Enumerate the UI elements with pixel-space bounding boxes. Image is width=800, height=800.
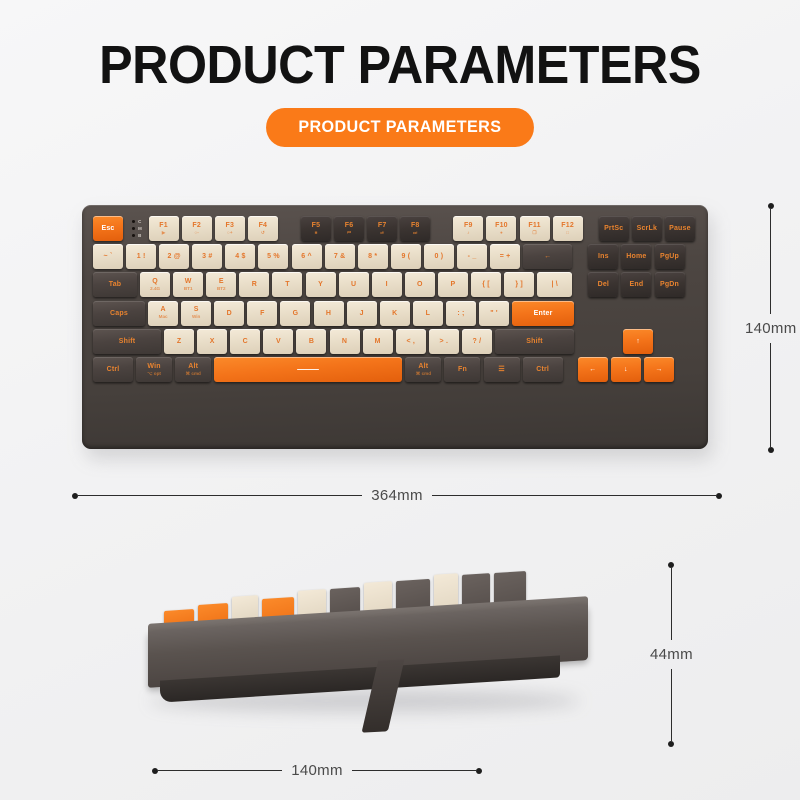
key-legend: 3 #: [202, 253, 212, 260]
key-esc[interactable]: Esc: [93, 216, 123, 241]
page-header: PRODUCT PARAMETERS PRODUCT PARAMETERS: [0, 0, 800, 147]
key-alt[interactable]: Alt⌘ cmd: [175, 357, 211, 382]
key-key[interactable]: = +: [490, 244, 520, 269]
key-sublegend: ○-: [195, 231, 199, 236]
key-f7[interactable]: F7⏯: [367, 216, 397, 241]
key-sublegend: ↺: [261, 231, 265, 236]
dimension-label-height: 140mm: [745, 320, 797, 337]
key-legend: Alt: [188, 363, 198, 370]
key-b[interactable]: B: [296, 329, 326, 354]
key-legend: Shift: [119, 338, 136, 345]
key-legend: Alt: [418, 363, 428, 370]
dimension-label-side-height: 44mm: [650, 646, 693, 663]
key-legend: F1: [159, 222, 168, 229]
key-legend: O: [417, 281, 423, 288]
key-sublegend: ○+: [227, 231, 232, 236]
key-o[interactable]: O: [405, 272, 435, 297]
dimension-side-height: 44mm: [650, 562, 693, 747]
dimension-line: [352, 770, 476, 771]
key-legend: = +: [500, 253, 511, 260]
led-dot-icon: [132, 234, 135, 237]
key-legend: R: [252, 281, 257, 288]
key-legend: F9: [464, 222, 473, 229]
key-sublegend: ■: [315, 231, 318, 236]
key-legend: F2: [192, 222, 201, 229]
key-caps[interactable]: Caps: [93, 301, 145, 326]
key-legend: X: [210, 338, 215, 345]
key-fn[interactable]: Fn: [444, 357, 480, 382]
led-dot-icon: [132, 220, 135, 223]
key-sublegend: □: [566, 231, 569, 236]
key-r[interactable]: R: [239, 272, 269, 297]
dimension-side-depth: 140mm: [152, 762, 482, 779]
led-label: M: [138, 226, 142, 231]
key-tab[interactable]: Tab: [93, 272, 137, 297]
key-pause[interactable]: Pause: [665, 216, 695, 241]
key-f8[interactable]: F8⏭: [400, 216, 430, 241]
key-legend: F11: [528, 222, 540, 229]
key-legend: J: [360, 310, 364, 317]
key-y[interactable]: Y: [306, 272, 336, 297]
key-7[interactable]: 7 &: [325, 244, 355, 269]
key-legend: Shift: [526, 338, 543, 345]
dimension-endpoint-dot: [716, 493, 722, 499]
key-legend: " ': [490, 310, 498, 317]
key-space[interactable]: [214, 357, 402, 382]
key-legend: ←: [589, 366, 596, 373]
key-ctrl[interactable]: Ctrl: [93, 357, 133, 382]
key-win[interactable]: Win⌥ opt: [136, 357, 172, 382]
key-legend: Ctrl: [107, 366, 120, 373]
key-j[interactable]: J: [347, 301, 377, 326]
key-legend: C: [243, 338, 248, 345]
key-f12[interactable]: F12□: [553, 216, 583, 241]
key-sublegend: ⌘ cmd: [186, 372, 201, 377]
key-pgdn[interactable]: PgDn: [655, 272, 685, 297]
key-legend: PgDn: [660, 281, 679, 288]
key-z[interactable]: Z: [164, 329, 194, 354]
key-x[interactable]: X: [197, 329, 227, 354]
key-8[interactable]: 8 *: [358, 244, 388, 269]
key-key[interactable]: ↓: [611, 357, 641, 382]
key-key[interactable]: " ': [479, 301, 509, 326]
key-legend: : ;: [457, 310, 464, 317]
key-legend: M: [375, 338, 381, 345]
key-key[interactable]: ←: [523, 244, 572, 269]
led-dot-icon: [132, 227, 135, 230]
key-i[interactable]: I: [372, 272, 402, 297]
key-shift[interactable]: Shift: [495, 329, 574, 354]
key-sublegend: ●: [500, 231, 503, 236]
key-t[interactable]: T: [272, 272, 302, 297]
key-sublegend: Mac: [159, 315, 168, 320]
key-key[interactable]: > .: [429, 329, 459, 354]
keyboard-top-view: EscCMBF1▶F2○-F3○+F4↺F5■F6⏮F7⏯F8⏭F9♪F10●F…: [82, 205, 712, 455]
status-badge: PRODUCT PARAMETERS: [266, 108, 534, 147]
dimension-line: [671, 568, 672, 640]
key-n[interactable]: N: [330, 329, 360, 354]
dimension-line: [671, 669, 672, 741]
keyboard-rows: EscCMBF1▶F2○-F3○+F4↺F5■F6⏮F7⏯F8⏭F9♪F10●F…: [93, 216, 698, 439]
key-legend: ←: [544, 253, 551, 260]
key-f11[interactable]: F11❐: [520, 216, 550, 241]
key-legend: - _: [468, 253, 477, 260]
key-legend: F4: [259, 222, 268, 229]
key-6[interactable]: 6 ^: [292, 244, 322, 269]
key-key[interactable]: ↑: [623, 329, 653, 354]
page-title: PRODUCT PARAMETERS: [28, 36, 772, 94]
key-legend: ↑: [636, 338, 640, 345]
key-sublegend: Win: [192, 315, 200, 320]
key-w[interactable]: WBT1: [173, 272, 203, 297]
key-key[interactable]: : ;: [446, 301, 476, 326]
key-sublegend: ▶: [162, 231, 166, 236]
led-label: B: [138, 233, 141, 238]
key-f5[interactable]: F5■: [301, 216, 331, 241]
key-legend: ? /: [473, 338, 482, 345]
key-1[interactable]: 1 !: [126, 244, 156, 269]
key-legend: 9 (: [401, 253, 410, 260]
key-home[interactable]: Home: [621, 244, 651, 269]
key-legend: I: [386, 281, 388, 288]
key-key[interactable]: ~ `: [93, 244, 123, 269]
key-f3[interactable]: F3○+: [215, 216, 245, 241]
dimension-top-height: 140mm: [745, 203, 797, 453]
key-end[interactable]: End: [621, 272, 651, 297]
key-legend: S: [194, 306, 199, 313]
key-legend: A: [160, 306, 165, 313]
key-0[interactable]: 0 ): [424, 244, 454, 269]
key-legend: Y: [318, 281, 323, 288]
key-legend: > .: [440, 338, 449, 345]
key-legend: Ctrl: [536, 366, 549, 373]
key-prtsc[interactable]: PrtSc: [599, 216, 629, 241]
key-f9[interactable]: F9♪: [453, 216, 483, 241]
key-legend: { [: [482, 281, 490, 288]
key-legend: B: [309, 338, 314, 345]
key-legend: Pause: [669, 225, 691, 232]
key-legend: ☰: [498, 366, 504, 373]
key-f4[interactable]: F4↺: [248, 216, 278, 241]
key-legend: →: [655, 366, 662, 373]
key-e[interactable]: EBT2: [206, 272, 236, 297]
key-legend: Home: [626, 253, 646, 260]
key-legend: F3: [225, 222, 234, 229]
key-legend: } ]: [515, 281, 523, 288]
key-legend: ScrLk: [637, 225, 657, 232]
key-legend: 4 $: [235, 253, 245, 260]
key-key[interactable]: ☰: [484, 357, 520, 382]
key-k[interactable]: K: [380, 301, 410, 326]
key-legend: End: [629, 281, 643, 288]
dimension-endpoint-dot: [768, 447, 774, 453]
key-f2[interactable]: F2○-: [182, 216, 212, 241]
key-legend: F12: [561, 222, 574, 229]
key-4[interactable]: 4 $: [225, 244, 255, 269]
keyboard-side-view: [120, 540, 620, 740]
key-g[interactable]: G: [280, 301, 310, 326]
key-q[interactable]: Q2.4G: [140, 272, 170, 297]
key-legend: Ins: [598, 253, 609, 260]
led-indicator-m: M: [132, 226, 142, 231]
key-legend: F6: [345, 222, 354, 229]
key-d[interactable]: D: [214, 301, 244, 326]
key-f6[interactable]: F6⏮: [334, 216, 364, 241]
key-key[interactable]: →: [644, 357, 674, 382]
dimension-line: [158, 770, 282, 771]
spacebar-dash-icon: [297, 369, 319, 371]
key-sublegend: BT2: [217, 287, 226, 292]
keyboard-row-home-row: CapsAMacSWinDFGHJKL: ;" 'Enter: [93, 301, 698, 326]
keyboard-row-qwerty-row: TabQ2.4GWBT1EBT2RTYUIOP{ [} ]| \DelEndPg…: [93, 272, 698, 297]
key-legend: Esc: [101, 225, 114, 232]
key-legend: N: [342, 338, 347, 345]
key-sublegend: ⏯: [380, 231, 384, 236]
key-sublegend: ⏭: [413, 231, 417, 236]
key-key[interactable]: ←: [578, 357, 608, 382]
key-legend: | \: [551, 281, 557, 288]
key-legend: U: [351, 281, 356, 288]
key-legend: 7 &: [334, 253, 346, 260]
key-legend: F10: [495, 222, 508, 229]
key-l[interactable]: L: [413, 301, 443, 326]
key-legend: F8: [411, 222, 420, 229]
key-sublegend: ⌘ cmd: [416, 372, 431, 377]
dimension-label-width: 364mm: [371, 487, 423, 504]
key-u[interactable]: U: [339, 272, 369, 297]
key-scrlk[interactable]: ScrLk: [632, 216, 662, 241]
led-indicator-c: C: [132, 219, 141, 224]
key-legend: E: [219, 278, 224, 285]
key-legend: ~ `: [104, 253, 113, 260]
keyboard-case: EscCMBF1▶F2○-F3○+F4↺F5■F6⏮F7⏯F8⏭F9♪F10●F…: [82, 205, 708, 449]
key-sublegend: ⌥ opt: [147, 372, 161, 377]
key-legend: V: [276, 338, 281, 345]
key-sublegend: ♪: [467, 231, 469, 236]
dimension-endpoint-dot: [668, 741, 674, 747]
key-v[interactable]: V: [263, 329, 293, 354]
key-a[interactable]: AMac: [148, 301, 178, 326]
dimension-line: [770, 209, 771, 314]
key-sublegend: ❐: [532, 231, 536, 236]
key-legend: Tab: [109, 281, 122, 288]
key-legend: Z: [177, 338, 181, 345]
key-legend: PgUp: [660, 253, 679, 260]
key-pgup[interactable]: PgUp: [655, 244, 685, 269]
key-legend: W: [185, 278, 192, 285]
dimension-label-side-depth: 140mm: [291, 762, 343, 779]
key-legend: D: [227, 310, 232, 317]
key-key[interactable]: ? /: [462, 329, 492, 354]
key-legend: Caps: [110, 310, 128, 317]
key-legend: H: [326, 310, 331, 317]
key-enter[interactable]: Enter: [512, 301, 574, 326]
key-3[interactable]: 3 #: [192, 244, 222, 269]
key-f1[interactable]: F1▶: [149, 216, 179, 241]
key-legend: 8 *: [368, 253, 377, 260]
key-5[interactable]: 5 %: [258, 244, 288, 269]
key-m[interactable]: M: [363, 329, 393, 354]
keyboard-row-number-row: ~ `1 !2 @3 #4 $5 %6 ^7 &8 *9 (0 )- _= +←…: [93, 244, 698, 269]
key-legend: Win: [147, 363, 160, 370]
key-9[interactable]: 9 (: [391, 244, 421, 269]
key-legend: K: [392, 310, 397, 317]
key-ctrl[interactable]: Ctrl: [523, 357, 563, 382]
dimension-line: [432, 495, 716, 496]
key-legend: 2 @: [168, 253, 181, 260]
key-f10[interactable]: F10●: [486, 216, 516, 241]
key-key[interactable]: { [: [471, 272, 501, 297]
key-legend: < ,: [406, 338, 415, 345]
key-legend: T: [285, 281, 289, 288]
led-indicator-b: B: [132, 233, 141, 238]
key-sublegend: 2.4G: [150, 287, 160, 292]
key-legend: PrtSc: [604, 225, 623, 232]
key-legend: 0 ): [435, 253, 444, 260]
key-h[interactable]: H: [314, 301, 344, 326]
dimension-line: [770, 343, 771, 448]
led-label: C: [138, 219, 141, 224]
key-ins[interactable]: Ins: [588, 244, 618, 269]
keyboard-row-function-row: EscCMBF1▶F2○-F3○+F4↺F5■F6⏮F7⏯F8⏭F9♪F10●F…: [93, 216, 698, 241]
key-shift[interactable]: Shift: [93, 329, 161, 354]
dimension-line: [78, 495, 362, 496]
key-sublegend: ⏮: [347, 231, 351, 236]
indicator-leds: CMB: [126, 216, 149, 241]
key-c[interactable]: C: [230, 329, 260, 354]
key-2[interactable]: 2 @: [159, 244, 189, 269]
key-legend: Del: [598, 281, 610, 288]
key-del[interactable]: Del: [588, 272, 618, 297]
key-key[interactable]: } ]: [504, 272, 534, 297]
key-legend: 6 ^: [301, 253, 312, 260]
key-key[interactable]: - _: [457, 244, 487, 269]
key-legend: ↓: [624, 366, 628, 373]
key-legend: Enter: [534, 310, 553, 317]
key-legend: F5: [312, 222, 321, 229]
key-p[interactable]: P: [438, 272, 468, 297]
badge-container: PRODUCT PARAMETERS: [0, 108, 800, 147]
key-legend: Q: [152, 278, 158, 285]
keyboard-row-bottom-row: CtrlWin⌥ optAlt⌘ cmdAlt⌘ cmdFn☰Ctrl←↓→: [93, 357, 698, 382]
key-legend: Fn: [458, 366, 467, 373]
keyboard-row-shift-row: ShiftZXCVBNM< ,> .? /Shift↑: [93, 329, 698, 354]
dimension-endpoint-dot: [476, 768, 482, 774]
key-legend: F7: [378, 222, 387, 229]
key-legend: G: [293, 310, 299, 317]
key-legend: 5 %: [267, 253, 280, 260]
key-legend: F: [260, 310, 264, 317]
key-legend: P: [451, 281, 456, 288]
key-alt[interactable]: Alt⌘ cmd: [405, 357, 441, 382]
key-s[interactable]: SWin: [181, 301, 211, 326]
key-sublegend: BT1: [184, 287, 193, 292]
key-legend: 1 !: [137, 253, 146, 260]
key-key[interactable]: | \: [537, 272, 572, 297]
dimension-top-width: 364mm: [72, 487, 722, 504]
key-key[interactable]: < ,: [396, 329, 426, 354]
key-f[interactable]: F: [247, 301, 277, 326]
key-legend: L: [426, 310, 430, 317]
